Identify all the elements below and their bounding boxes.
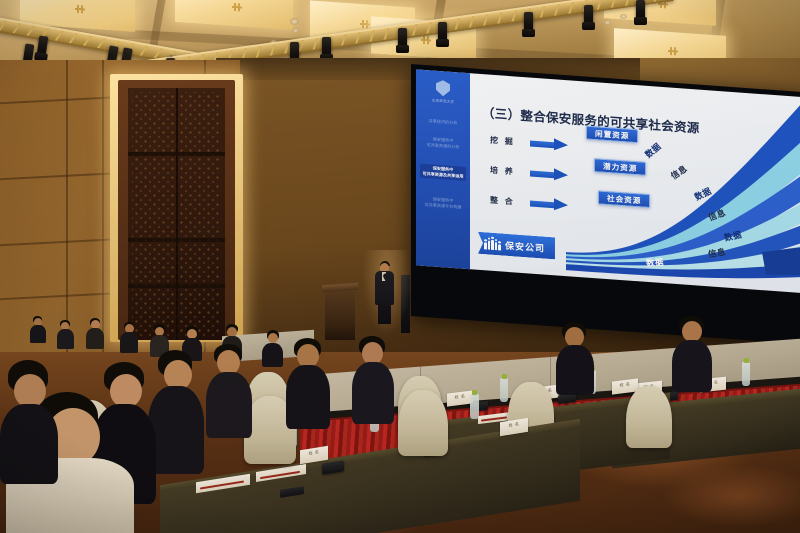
sidebar-item-2[interactable]: 保安服务中 可共享资源的分析 [420, 136, 466, 151]
company-node-label: 保安公司 [505, 238, 545, 254]
slide-sidebar: 北京师范大学 共享经济的分析 保安服务中 可共享资源的分析 保安服务中 可共享资… [416, 69, 470, 269]
conference-hall-photo: 北京师范大学 共享经济的分析 保安服务中 可共享资源的分析 保安服务中 可共享资… [0, 0, 800, 533]
logo-text: 北京师范大学 [428, 97, 458, 104]
people-group-icon [484, 237, 501, 250]
door-rail [128, 284, 225, 288]
stage-spotlight [322, 37, 331, 57]
arrow-right-icon [530, 167, 570, 183]
flow-action-label: 整 合 [490, 195, 515, 208]
audience-member [556, 322, 594, 392]
audience-member [286, 338, 330, 428]
water-bottle [500, 378, 508, 402]
water-bottle [470, 394, 479, 419]
company-node[interactable]: 保安公司 [478, 232, 555, 260]
flow-action-label: 培 养 [490, 165, 515, 178]
arrow-right-icon [530, 137, 570, 153]
stage-spotlight [438, 22, 447, 42]
audience-chair[interactable] [398, 390, 448, 456]
presenter-legs [378, 303, 391, 324]
stage-spotlight [524, 12, 533, 32]
wooden-lectern[interactable] [325, 288, 355, 340]
door-rail [128, 238, 225, 242]
audience-member [0, 360, 58, 480]
door-split-line [176, 88, 178, 340]
university-logo-icon: 北京师范大学 [428, 79, 458, 105]
water-bottle [742, 362, 750, 386]
presenter [374, 262, 396, 324]
sidebar-item-4[interactable]: 保安服务中 可共享资源平台构建 [420, 196, 466, 211]
sidebar-item-3[interactable]: 保安服务中 可共享资源及共享运用 [420, 164, 466, 181]
audience-chair[interactable] [626, 386, 672, 448]
flow-action-label: 挖 掘 [490, 135, 515, 148]
fan-label-7: 数据 [645, 256, 665, 269]
presentation-slide: 北京师范大学 共享经济的分析 保安服务中 可共享资源的分析 保安服务中 可共享资… [416, 69, 800, 293]
fan-label-6: 信息 [707, 246, 727, 260]
arrow-right-icon [530, 197, 570, 213]
stage-spotlight [37, 35, 49, 56]
stage-spotlight [584, 5, 593, 25]
led-presentation-screen[interactable]: 北京师范大学 共享经济的分析 保安服务中 可共享资源的分析 保安服务中 可共享资… [411, 64, 800, 344]
sidebar-item-1[interactable]: 共享经济的分析 [420, 118, 466, 127]
door-rail [128, 152, 225, 156]
ceiling-light-panel [175, 0, 293, 30]
audience-member [672, 316, 712, 388]
audience-member [352, 336, 394, 422]
ornate-wooden-door[interactable] [128, 88, 225, 340]
stage-spotlight [398, 28, 407, 48]
audience-member [148, 350, 204, 470]
stage-speaker-cabinet [401, 275, 410, 333]
audience-member [206, 344, 252, 436]
stage-spotlight [636, 0, 645, 20]
